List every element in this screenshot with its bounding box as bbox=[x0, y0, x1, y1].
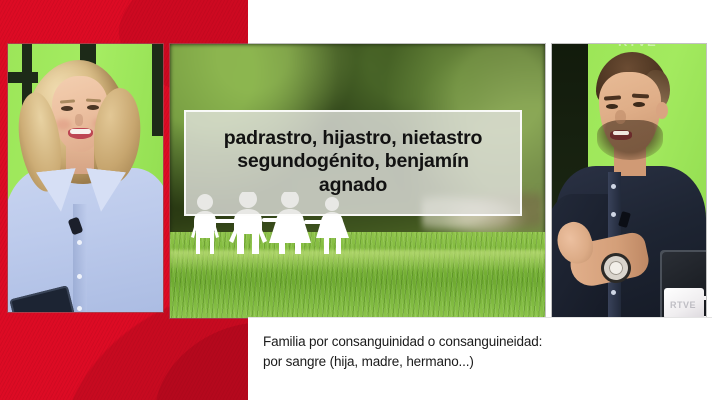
video-panel-right-guest[interactable]: RTVE RTVE bbox=[552, 44, 706, 318]
host-mouth bbox=[68, 128, 93, 139]
guest-shirt-button bbox=[611, 212, 616, 217]
host-nose bbox=[75, 114, 83, 126]
host-eye bbox=[87, 105, 99, 110]
guest-nose bbox=[615, 110, 626, 124]
guest-eye bbox=[633, 102, 645, 107]
host-shirt-button bbox=[77, 274, 82, 279]
video-panel-left-host[interactable] bbox=[8, 44, 163, 312]
host-shirt-button bbox=[77, 240, 82, 245]
guest-ear bbox=[656, 102, 668, 119]
guest-shirt-button bbox=[611, 184, 616, 189]
overlay-line-3: agnado bbox=[319, 174, 387, 197]
guest-eye bbox=[606, 104, 618, 109]
host-shirt-button bbox=[77, 306, 82, 311]
guest-beard bbox=[597, 120, 663, 160]
mug-logo-text: RTVE bbox=[670, 300, 696, 310]
guest-teeth bbox=[613, 131, 629, 135]
studio-structure bbox=[152, 44, 163, 136]
graphic-text-overlay: padrastro, hijastro, nietastro segundogé… bbox=[184, 110, 522, 216]
overlay-line-2: segundogénito, benjamín bbox=[237, 150, 469, 173]
studio-structure bbox=[8, 72, 38, 83]
caption-panel: Familia por consanguinidad o consanguine… bbox=[248, 318, 712, 400]
host-eye bbox=[61, 106, 73, 111]
broadcast-screen: padrastro, hijastro, nietastro segundogé… bbox=[0, 0, 712, 400]
overlay-line-1: padrastro, hijastro, nietastro bbox=[224, 127, 482, 150]
channel-watermark: RTVE bbox=[618, 44, 657, 49]
caption-line-1: Familia por consanguinidad o consanguine… bbox=[263, 332, 712, 352]
guest-mouth bbox=[610, 130, 632, 140]
caption-line-2: por sangre (hija, madre, hermano...) bbox=[263, 352, 712, 372]
host-teeth bbox=[70, 129, 91, 134]
guest-eyebrow bbox=[632, 94, 649, 99]
guest-shirt-button bbox=[611, 290, 616, 295]
video-panel-center-graphic[interactable]: padrastro, hijastro, nietastro segundogé… bbox=[170, 44, 545, 318]
